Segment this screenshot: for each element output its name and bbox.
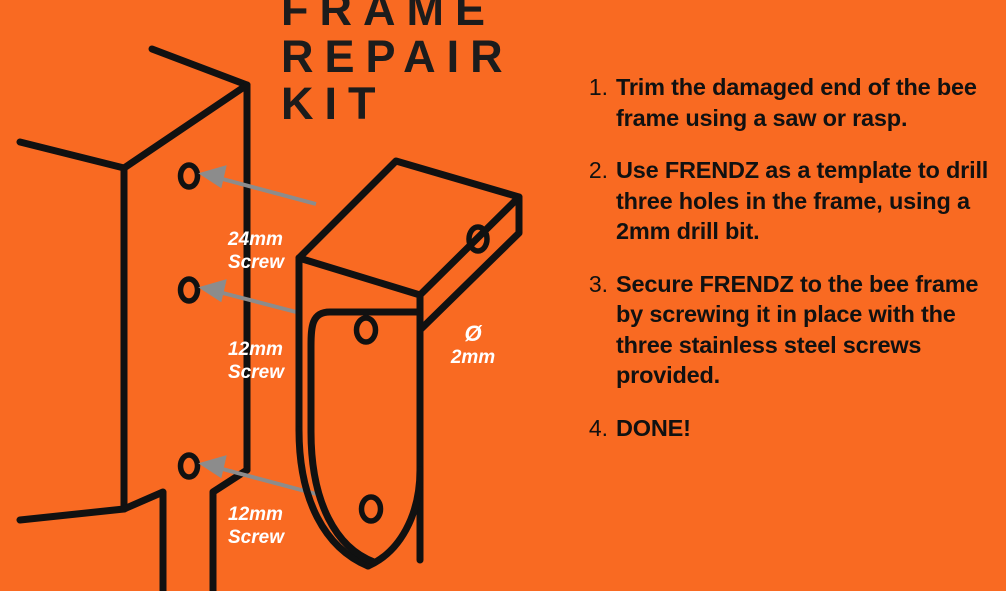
instruction-step: 1. Trim the damaged end of the bee frame… (586, 72, 1006, 133)
label-12mm-screw-bottom: 12mm Screw (228, 503, 284, 549)
frame-repair-kit-graphic: 24mm Screw 12mm Screw 12mm Screw Ø 2mm F… (0, 0, 1006, 591)
frame-hole-middle (181, 279, 198, 301)
instruction-step: 3. Secure FRENDZ to the bee frame by scr… (586, 269, 1006, 391)
label-12mm-screw-bottom-line1: 12mm (228, 503, 284, 526)
label-hole-diameter-value: 2mm (443, 346, 503, 369)
frame-left-wing-lower (20, 509, 124, 520)
title-line-frame: FRAME (281, 0, 541, 33)
title-line-repair: REPAIR (281, 33, 541, 80)
title-line-kit: KIT (281, 80, 541, 127)
label-12mm-screw-middle: 12mm Screw (228, 338, 284, 384)
step-number: 2. (586, 155, 616, 185)
bracket-hole-upper (357, 318, 376, 342)
instruction-step: 4. DONE! (586, 413, 1006, 444)
label-hole-diameter: Ø 2mm (443, 322, 503, 369)
instructions-list: 1. Trim the damaged end of the bee frame… (586, 72, 1006, 443)
label-24mm-screw: 24mm Screw (228, 228, 284, 274)
step-text: Trim the damaged end of the bee frame us… (616, 72, 1006, 133)
arrow-line-12mm-middle (215, 291, 300, 313)
instruction-step: 2. Use FRENDZ as a template to drill thr… (586, 155, 1006, 247)
step-text: DONE! (616, 413, 1006, 444)
arrow-line-24mm (215, 177, 316, 204)
bee-frame-outline (20, 49, 247, 591)
frame-drill-holes (181, 165, 198, 477)
frame-hole-top (181, 165, 198, 187)
step-number: 1. (586, 72, 616, 102)
frame-top-front-edge (124, 85, 247, 168)
arrow-head-24mm (203, 168, 224, 185)
label-12mm-screw-middle-line2: Screw (228, 361, 284, 384)
page-title: FRAME REPAIR KIT (281, 0, 541, 127)
frame-top-back-edge (152, 49, 247, 85)
label-12mm-screw-bottom-line2: Screw (228, 526, 284, 549)
frame-hole-bottom (181, 455, 198, 477)
label-24mm-screw-line1: 24mm (228, 228, 284, 251)
step-text: Secure FRENDZ to the bee frame by screwi… (616, 269, 1006, 391)
bracket-hole-lower (362, 497, 381, 521)
step-text: Use FRENDZ as a template to drill three … (616, 155, 1006, 247)
frame-bottom-notch (124, 492, 163, 591)
step-number: 3. (586, 269, 616, 299)
step-number: 4. (586, 413, 616, 443)
bracket-right-end-face (420, 197, 519, 330)
arrow-head-12mm-bottom (203, 458, 224, 475)
arrow-head-12mm-middle (203, 282, 224, 299)
label-12mm-screw-middle-line1: 12mm (228, 338, 284, 361)
bracket-top-face (299, 161, 519, 295)
bracket-inner-fillet (311, 312, 420, 562)
frame-left-wing-upper (20, 142, 124, 168)
diameter-symbol-icon: Ø (443, 322, 503, 346)
label-24mm-screw-line2: Screw (228, 251, 284, 274)
